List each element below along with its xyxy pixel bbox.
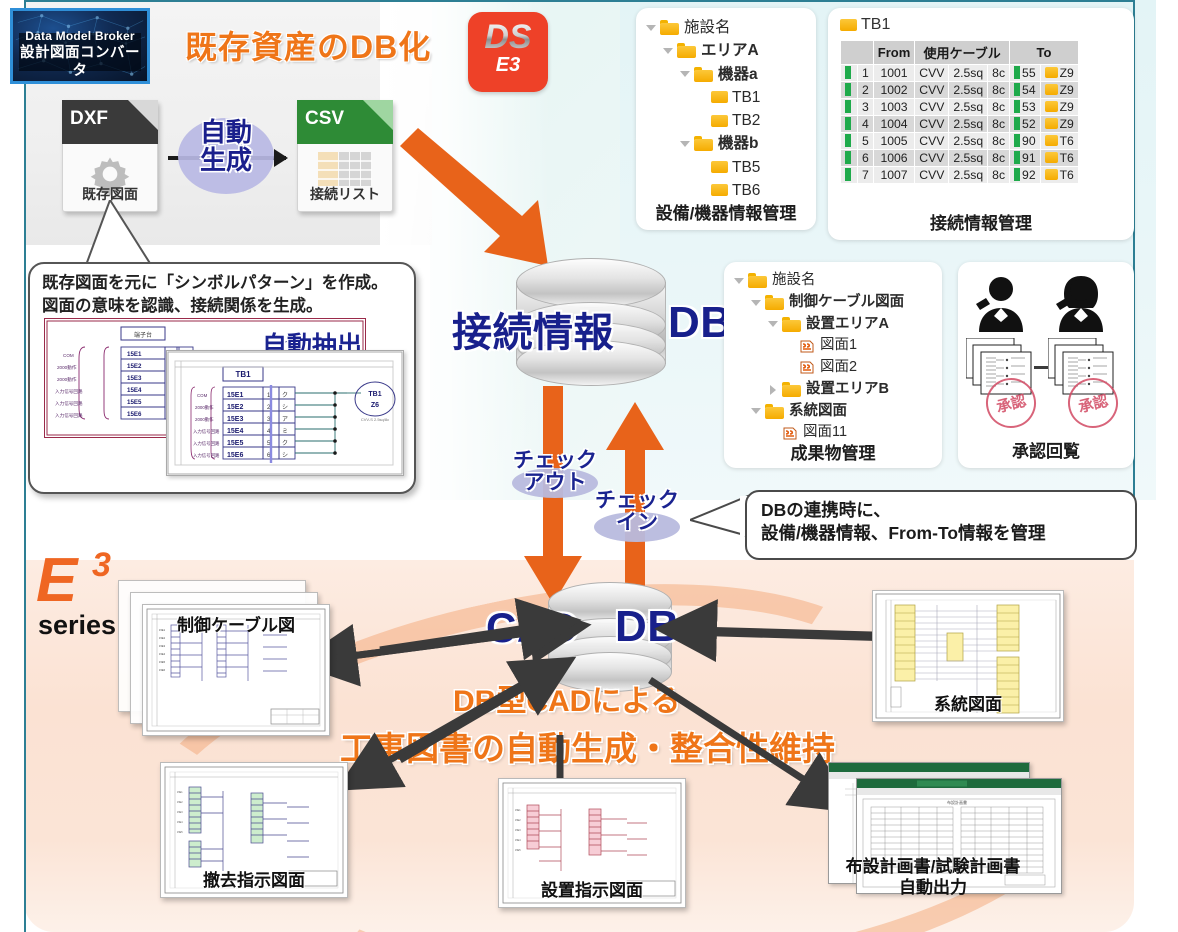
svg-text:入力信号回路: 入力信号回路 [55, 400, 83, 407]
table-header-cell: From [873, 41, 915, 65]
plan-documents-caption: 布設計画書/試験計画書 自動出力 [808, 856, 1058, 899]
svg-text:15E5: 15E5 [159, 660, 166, 664]
table-cell: 2.5sq [949, 167, 988, 184]
table-cell: 8c [988, 167, 1010, 184]
cad-tagline-line-1: DB型CADによる [453, 676, 680, 720]
row-status-indicator [841, 150, 858, 167]
e3-logo-series-text: series [38, 610, 116, 641]
table-cell: CVV [915, 82, 949, 99]
deliverable-tree-caption: 成果物管理 [724, 439, 942, 464]
table-row[interactable]: 41004CVV2.5sq8c52Z9 [841, 116, 1079, 133]
svg-text:15E3: 15E3 [159, 644, 166, 648]
folder-icon [782, 317, 801, 332]
callout-right: DBの連携時に、 設備/機器情報、From-To情報を管理 [745, 490, 1137, 560]
svg-text:15E5: 15E5 [227, 440, 243, 447]
table-header-blank [841, 41, 874, 65]
tree-spacer [695, 160, 709, 174]
table-cell: CVV [915, 150, 949, 167]
svg-text:Z6: Z6 [371, 402, 379, 409]
table-cell: 1003 [873, 99, 915, 116]
tree-node[interactable]: 設置エリアB [732, 379, 904, 401]
row-status-indicator [841, 65, 858, 82]
drawing-file-icon [799, 339, 815, 354]
table-cell-to: Z9 [1040, 99, 1078, 116]
row-status-indicator [841, 133, 858, 150]
callout-right-line-1: DBの連携時に、 [761, 499, 1046, 522]
terminal-block-icon [711, 184, 728, 196]
terminal-block-icon [711, 91, 728, 103]
table-header-cell: To [1010, 41, 1079, 65]
tree-node-label: 機器a [718, 63, 758, 86]
tree-node[interactable]: エリアA [644, 39, 760, 62]
removal-instruction-caption: 撤去指示図面 [161, 866, 347, 891]
svg-text:15E1: 15E1 [177, 791, 183, 794]
svg-text:TB1: TB1 [368, 391, 381, 398]
tree-node-label: 系統図面 [789, 401, 847, 423]
row-status-indicator [841, 167, 858, 184]
approval-caption: 承認回覧 [958, 437, 1134, 462]
table-cell: 3 [858, 99, 874, 116]
chevron-down-icon[interactable] [661, 44, 675, 58]
svg-text:15E4: 15E4 [177, 821, 183, 824]
table-row[interactable]: 11001CVV2.5sq8c55Z9 [841, 65, 1079, 82]
svg-text:15E4: 15E4 [127, 387, 142, 394]
tree-node-label: 図面1 [820, 335, 857, 357]
page-title: 既存資産のDB化 [185, 22, 431, 68]
tree-spacer [695, 114, 709, 128]
callout-left-line-1: 既存図面を元に「シンボルパターン」を作成。 [42, 272, 406, 295]
document-control-cable[interactable]: 15E115E215E3 15E415E515E6 制御ケーブル図 [142, 604, 330, 736]
folder-icon [694, 67, 713, 82]
checkin-line-1: チェック [582, 490, 692, 512]
table-row[interactable]: 21002CVV2.5sq8c54Z9 [841, 82, 1079, 99]
deliverable-tree[interactable]: 施設名制御ケーブル図面設置エリアA図面1図面2設置エリアB系統図面図面11 [732, 270, 904, 444]
svg-text:2000動作: 2000動作 [195, 416, 214, 423]
svg-text:端子台: 端子台 [134, 331, 152, 339]
dxf-label: DXF [70, 108, 108, 130]
tree-node-label: 制御ケーブル図面 [789, 292, 904, 314]
installation-instruction-caption: 設置指示図面 [499, 876, 685, 901]
plan-documents-caption-line-1: 布設計画書/試験計画書 [808, 856, 1058, 877]
callout-right-line-2: 設備/機器情報、From-To情報を管理 [761, 522, 1046, 545]
table-cell: 2 [858, 82, 874, 99]
svg-text:15E3: 15E3 [227, 416, 243, 423]
table-cell: 8c [988, 82, 1010, 99]
auto-generate-line-1: 自動 [178, 118, 274, 146]
tree-spacer [783, 361, 797, 375]
table-cell: 1004 [873, 116, 915, 133]
auto-generate-label: 自動 生成 [178, 118, 274, 174]
svg-text:15E1: 15E1 [515, 809, 521, 812]
connection-db-label-left: 接続情報 [452, 300, 614, 358]
folder-icon [694, 136, 713, 151]
table-cell: 1002 [873, 82, 915, 99]
checkin-line-2: イン [582, 512, 692, 534]
chevron-down-icon[interactable] [678, 137, 692, 151]
table-cell-to: T6 [1040, 133, 1078, 150]
svg-text:TB1: TB1 [235, 370, 251, 379]
terminal-block-icon [711, 161, 728, 173]
svg-text:ア: ア [282, 416, 288, 423]
chevron-right-icon[interactable] [766, 383, 780, 397]
chevron-down-icon[interactable] [749, 404, 763, 418]
table-cell: 1007 [873, 167, 915, 184]
table-cell: CVV [915, 116, 949, 133]
checkin-arrow-head [606, 402, 664, 454]
table-cell: 6 [858, 150, 874, 167]
auto-generate-line-2: 生成 [178, 146, 274, 174]
tree-node[interactable]: 機器a [644, 63, 760, 86]
table-row[interactable]: 61006CVV2.5sq8c91T6 [841, 150, 1079, 167]
connection-table-title: TB1 [840, 16, 890, 34]
table-cell: 2.5sq [949, 150, 988, 167]
table-cell: CVV [915, 65, 949, 82]
tree-spacer [695, 90, 709, 104]
deliverable-tree-card: 施設名制御ケーブル図面設置エリアA図面1図面2設置エリアB系統図面図面11 成果… [724, 262, 942, 468]
tree-node[interactable]: 図面2 [732, 357, 904, 379]
table-cell: 2.5sq [949, 133, 988, 150]
connection-table-caption: 接続情報管理 [828, 209, 1134, 234]
table-cell-to: Z9 [1040, 116, 1078, 133]
tree-node[interactable]: TB5 [644, 156, 760, 179]
tree-node-label: 設置エリアA [806, 314, 889, 336]
cad-db-label-left: CAD [486, 604, 579, 652]
svg-text:15E6: 15E6 [159, 668, 166, 672]
table-cell: 7 [858, 167, 874, 184]
svg-text:入力信号回路: 入力信号回路 [55, 388, 83, 395]
table-row[interactable]: 71007CVV2.5sq8c92T6 [841, 167, 1079, 184]
callout-left-text: 既存図面を元に「シンボルパターン」を作成。 図面の意味を認識、接続関係を生成。 [42, 272, 406, 318]
person-female-icon [1054, 274, 1108, 332]
row-status-indicator [841, 116, 858, 133]
equipment-tree-card: 施設名エリアA機器aTB1TB2機器bTB5TB6 設備/機器情報管理 [636, 8, 816, 230]
svg-text:入力信号回路: 入力信号回路 [193, 440, 220, 447]
csv-file-icon: CSV 接続リスト [297, 100, 393, 212]
svg-text:15E5: 15E5 [127, 399, 142, 406]
table-cell: 1001 [873, 65, 915, 82]
checkin-label: チェック イン [582, 490, 692, 534]
chevron-down-icon[interactable] [678, 67, 692, 81]
csv-caption: 接続リスト [297, 184, 393, 204]
page-fold-icon [128, 100, 158, 130]
table-cell-to: T6 [1040, 150, 1078, 167]
e3-logo-mark: E [36, 550, 77, 612]
svg-text:ミ: ミ [282, 429, 288, 435]
spreadsheet-icon [318, 152, 372, 186]
svg-text:15E1: 15E1 [227, 392, 243, 399]
svg-text:2000動作: 2000動作 [195, 404, 214, 411]
csv-label: CSV [305, 108, 344, 130]
table-cell-to: Z9 [1040, 65, 1078, 82]
row-status-indicator [841, 82, 858, 99]
tree-node-label: TB1 [732, 86, 760, 109]
connection-db-label-right: DB [668, 298, 733, 348]
svg-text:ク: ク [282, 392, 288, 399]
svg-text:15E6: 15E6 [127, 411, 142, 418]
table-cell-to-no: 53 [1010, 99, 1041, 116]
big-orange-arrow [392, 120, 592, 280]
drawing-file-icon [799, 360, 815, 375]
svg-text:入力信号回路: 入力信号回路 [193, 452, 220, 459]
tree-node[interactable]: TB2 [644, 109, 760, 132]
callout-right-text: DBの連携時に、 設備/機器情報、From-To情報を管理 [761, 499, 1046, 545]
document-installation-instruction[interactable]: 15E115E215E3 15E415E5 設置指示図面 [498, 778, 686, 908]
system-diagram-caption: 系統図面 [873, 690, 1063, 715]
table-cell: 1006 [873, 150, 915, 167]
folder-icon [765, 295, 784, 310]
chevron-down-icon[interactable] [644, 21, 658, 35]
approval-card: 承認 承認 承認回覧 [958, 262, 1134, 468]
tree-node[interactable]: 制御ケーブル図面 [732, 292, 904, 314]
table-cell: 8c [988, 99, 1010, 116]
svg-text:15E2: 15E2 [227, 404, 243, 411]
callout-left: 既存図面を元に「シンボルパターン」を作成。 図面の意味を認識、接続関係を生成。 … [28, 262, 416, 494]
table-cell-to: T6 [1040, 167, 1078, 184]
data-model-broker-logo: Data Model Broker 設計図面コンバータ [10, 8, 150, 84]
cad-db-label-right: DB [615, 602, 680, 652]
connection-table-title-text: TB1 [861, 16, 890, 34]
table-cell-to: Z9 [1040, 82, 1078, 99]
tree-node[interactable]: 施設名 [644, 16, 760, 39]
e3-logo-superscript: 3 [92, 546, 111, 585]
connection-table-card: TB1 From使用ケーブルTo11001CVV2.5sq8c55Z921002… [828, 8, 1134, 240]
svg-text:CVV-S 2.5sq/8c: CVV-S 2.5sq/8c [361, 417, 389, 422]
dxf-file-icon: DXF 既存図面 [62, 100, 158, 212]
table-cell: 2.5sq [949, 116, 988, 133]
table-cell-to-no: 91 [1010, 150, 1041, 167]
connection-table[interactable]: From使用ケーブルTo11001CVV2.5sq8c55Z921002CVV2… [840, 40, 1079, 184]
ds-badge-bottom: E3 [468, 54, 548, 77]
svg-text:COM: COM [197, 393, 208, 398]
table-row[interactable]: 51005CVV2.5sq8c90T6 [841, 133, 1079, 150]
svg-text:15E5: 15E5 [177, 831, 183, 834]
svg-text:15E4: 15E4 [227, 428, 243, 435]
svg-text:布設計画書: 布設計画書 [947, 799, 967, 805]
tree-node-label: 施設名 [684, 16, 731, 39]
tree-node[interactable]: TB1 [644, 86, 760, 109]
svg-text:15E6: 15E6 [227, 452, 243, 459]
folder-icon [765, 404, 784, 419]
table-cell: 1005 [873, 133, 915, 150]
svg-text:COM: COM [63, 353, 74, 358]
table-cell: CVV [915, 133, 949, 150]
table-cell-to-no: 52 [1010, 116, 1041, 133]
table-cell: CVV [915, 167, 949, 184]
tree-node[interactable]: 施設名 [732, 270, 904, 292]
table-cell: 8c [988, 150, 1010, 167]
svg-text:15E2: 15E2 [159, 636, 166, 640]
svg-text:ク: ク [282, 440, 288, 447]
table-header-row: From使用ケーブルTo [841, 41, 1079, 65]
document-removal-instruction[interactable]: 15E115E215E3 15E415E5 撤去指示図面 [160, 762, 348, 898]
tree-node-label: 機器b [718, 132, 758, 155]
table-cell-to-no: 90 [1010, 133, 1041, 150]
table-cell: 2.5sq [949, 82, 988, 99]
svg-text:15E3: 15E3 [127, 375, 142, 382]
table-cell-to-no: 55 [1010, 65, 1041, 82]
tree-node-label: TB5 [732, 156, 760, 179]
frame-top-border [24, 0, 1135, 2]
logo-text: Data Model Broker 設計図面コンバータ [13, 29, 147, 80]
svg-text:シ: シ [282, 453, 288, 459]
svg-text:入力信号回路: 入力信号回路 [193, 428, 220, 435]
table-cell: 8c [988, 65, 1010, 82]
folder-icon [660, 20, 679, 35]
document-system-diagram[interactable]: 系統図面 [872, 590, 1064, 722]
table-cell: 2.5sq [949, 99, 988, 116]
svg-text:シ: シ [282, 405, 288, 411]
callout-left-line-2: 図面の意味を認識、接続関係を生成。 [42, 295, 406, 318]
table-cell-to-no: 92 [1010, 167, 1041, 184]
svg-text:2000動作: 2000動作 [57, 364, 77, 371]
table-chip-icon [840, 19, 857, 31]
page-fold-icon [363, 100, 393, 130]
tree-spacer [783, 339, 797, 353]
checkout-label: チェック アウト [500, 450, 610, 494]
logo-line-2: 設計図面コンバータ [13, 44, 147, 80]
ds-e3-badge: DS E3 [468, 12, 548, 92]
tree-node-label: エリアA [701, 39, 759, 62]
svg-text:15E2: 15E2 [177, 801, 183, 804]
diagram-root: Data Model Broker 設計図面コンバータ 既存資産のDB化 DXF… [0, 0, 1178, 932]
control-cable-caption: 制御ケーブル図 [143, 611, 329, 636]
tree-node-label: 図面2 [820, 357, 857, 379]
tree-node-label: TB2 [732, 109, 760, 132]
tree-node-label: 施設名 [772, 270, 816, 292]
table-cell: 8c [988, 116, 1010, 133]
table-row[interactable]: 31003CVV2.5sq8c53Z9 [841, 99, 1079, 116]
tree-spacer [695, 183, 709, 197]
svg-text:15E2: 15E2 [127, 363, 142, 370]
tree-node[interactable]: 系統図面 [732, 401, 904, 423]
logo-line-1: Data Model Broker [13, 29, 147, 44]
tree-node-label: 設置エリアB [806, 379, 889, 401]
table-cell: 4 [858, 116, 874, 133]
equipment-tree[interactable]: 施設名エリアA機器aTB1TB2機器bTB5TB6 [644, 16, 760, 202]
table-cell: 2.5sq [949, 65, 988, 82]
svg-text:15E1: 15E1 [127, 351, 142, 358]
drawing-2-content: TB1 15E115E215E3 15E415E515E6 123 456 クシ… [167, 351, 403, 475]
sample-drawing-2: TB1 15E115E215E3 15E415E515E6 123 456 クシ… [166, 350, 404, 476]
chevron-down-icon[interactable] [749, 296, 763, 310]
equipment-tree-caption: 設備/機器情報管理 [636, 199, 816, 224]
chevron-down-icon[interactable] [732, 274, 746, 288]
svg-text:15E3: 15E3 [515, 829, 521, 832]
tree-node[interactable]: 図面1 [732, 335, 904, 357]
person-male-icon [974, 274, 1028, 332]
tree-node[interactable]: 設置エリアA [732, 314, 904, 336]
table-header-cell: 使用ケーブル [915, 41, 1010, 65]
chevron-down-icon[interactable] [766, 317, 780, 331]
cad-tagline-line-2: 工事図書の自動生成・整合性維持 [340, 722, 835, 770]
folder-icon [677, 43, 696, 58]
svg-text:15E5: 15E5 [515, 849, 521, 852]
plan-documents-caption-line-2: 自動出力 [808, 877, 1058, 898]
svg-text:15E4: 15E4 [159, 652, 166, 656]
svg-text:入力信号回路: 入力信号回路 [55, 412, 83, 419]
terminal-block-icon [711, 115, 728, 127]
table-cell: 5 [858, 133, 874, 150]
ds-badge-top: DS [468, 18, 548, 57]
table-cell: 1 [858, 65, 874, 82]
svg-text:2000動作: 2000動作 [57, 376, 77, 383]
row-status-indicator [841, 99, 858, 116]
checkout-line-1: チェック [500, 450, 610, 472]
svg-text:15E2: 15E2 [515, 819, 521, 822]
table-cell: CVV [915, 99, 949, 116]
table-cell: 8c [988, 133, 1010, 150]
frame-left-border [24, 0, 26, 932]
svg-text:15E3: 15E3 [177, 811, 183, 814]
table-cell-to-no: 54 [1010, 82, 1041, 99]
folder-icon [782, 382, 801, 397]
svg-text:15E4: 15E4 [515, 839, 521, 842]
tree-node[interactable]: 機器b [644, 132, 760, 155]
folder-icon [748, 273, 767, 288]
